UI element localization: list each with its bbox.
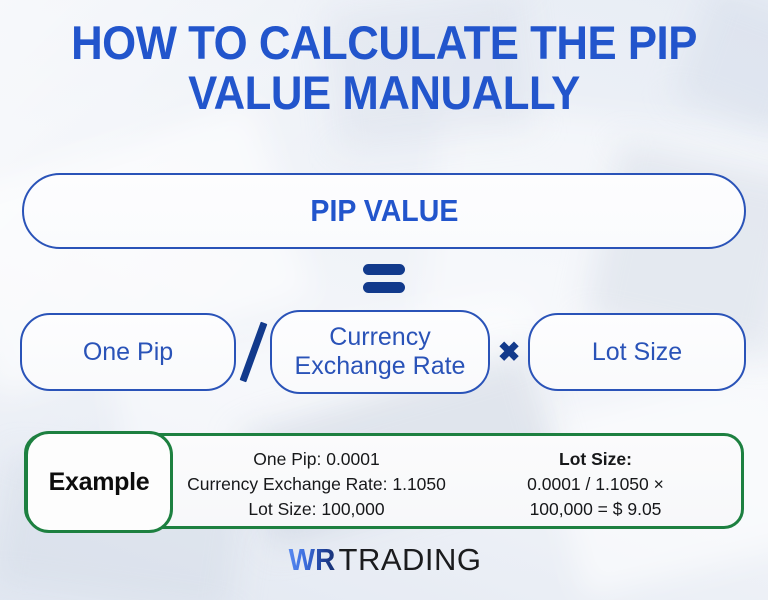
- equals-operator-icon: [363, 264, 405, 293]
- formula-term-exchange-rate-label: CurrencyExchange Rate: [295, 323, 466, 381]
- exchange-rate-line-2: Exchange Rate: [295, 352, 466, 380]
- pip-value-box: PIP VALUE: [22, 173, 746, 249]
- brand-logo-text: TRADING: [339, 542, 482, 577]
- infographic-canvas: HOW TO CALCULATE THE PIP VALUE MANUALLY …: [0, 0, 768, 600]
- example-result-line: 0.0001 / 1.1050 ×: [456, 472, 735, 497]
- pip-value-label: PIP VALUE: [310, 193, 458, 229]
- equals-bar-bottom: [363, 282, 405, 293]
- formula-term-one-pip: One Pip: [20, 313, 236, 391]
- page-title-line-2: VALUE MANUALLY: [27, 68, 741, 118]
- brand-logo: WRTRADING: [0, 542, 768, 578]
- example-result-line: 100,000 = $ 9.05: [456, 497, 735, 522]
- example-result-header: Lot Size:: [456, 447, 735, 472]
- example-panel: Example One Pip: 0.0001 Currency Exchang…: [24, 433, 744, 529]
- exchange-rate-line-1: Currency: [329, 323, 430, 351]
- equals-bar-top: [363, 264, 405, 275]
- formula-term-lot-size-label: Lot Size: [592, 338, 682, 367]
- formula-term-lot-size: Lot Size: [528, 313, 746, 391]
- brand-logo-mark: WR: [289, 542, 336, 578]
- multiply-operator-icon: ✖: [490, 339, 528, 366]
- example-input-line: One Pip: 0.0001: [177, 447, 456, 472]
- divide-operator-icon: [236, 317, 270, 387]
- page-title-line-1: HOW TO CALCULATE THE PIP: [27, 18, 741, 68]
- example-columns: One Pip: 0.0001 Currency Exchange Rate: …: [177, 436, 735, 532]
- example-inputs-column: One Pip: 0.0001 Currency Exchange Rate: …: [177, 447, 456, 522]
- example-badge: Example: [25, 431, 173, 533]
- formula-row: One Pip CurrencyExchange Rate ✖ Lot Size: [20, 310, 748, 394]
- example-input-line: Currency Exchange Rate: 1.1050: [177, 472, 456, 497]
- example-input-line: Lot Size: 100,000: [177, 497, 456, 522]
- page-title: HOW TO CALCULATE THE PIP VALUE MANUALLY: [0, 18, 768, 118]
- formula-term-one-pip-label: One Pip: [83, 338, 173, 367]
- divide-slash-bar: [240, 322, 268, 383]
- formula-term-exchange-rate: CurrencyExchange Rate: [270, 310, 490, 394]
- example-badge-label: Example: [49, 468, 150, 497]
- example-result-column: Lot Size: 0.0001 / 1.1050 × 100,000 = $ …: [456, 447, 735, 522]
